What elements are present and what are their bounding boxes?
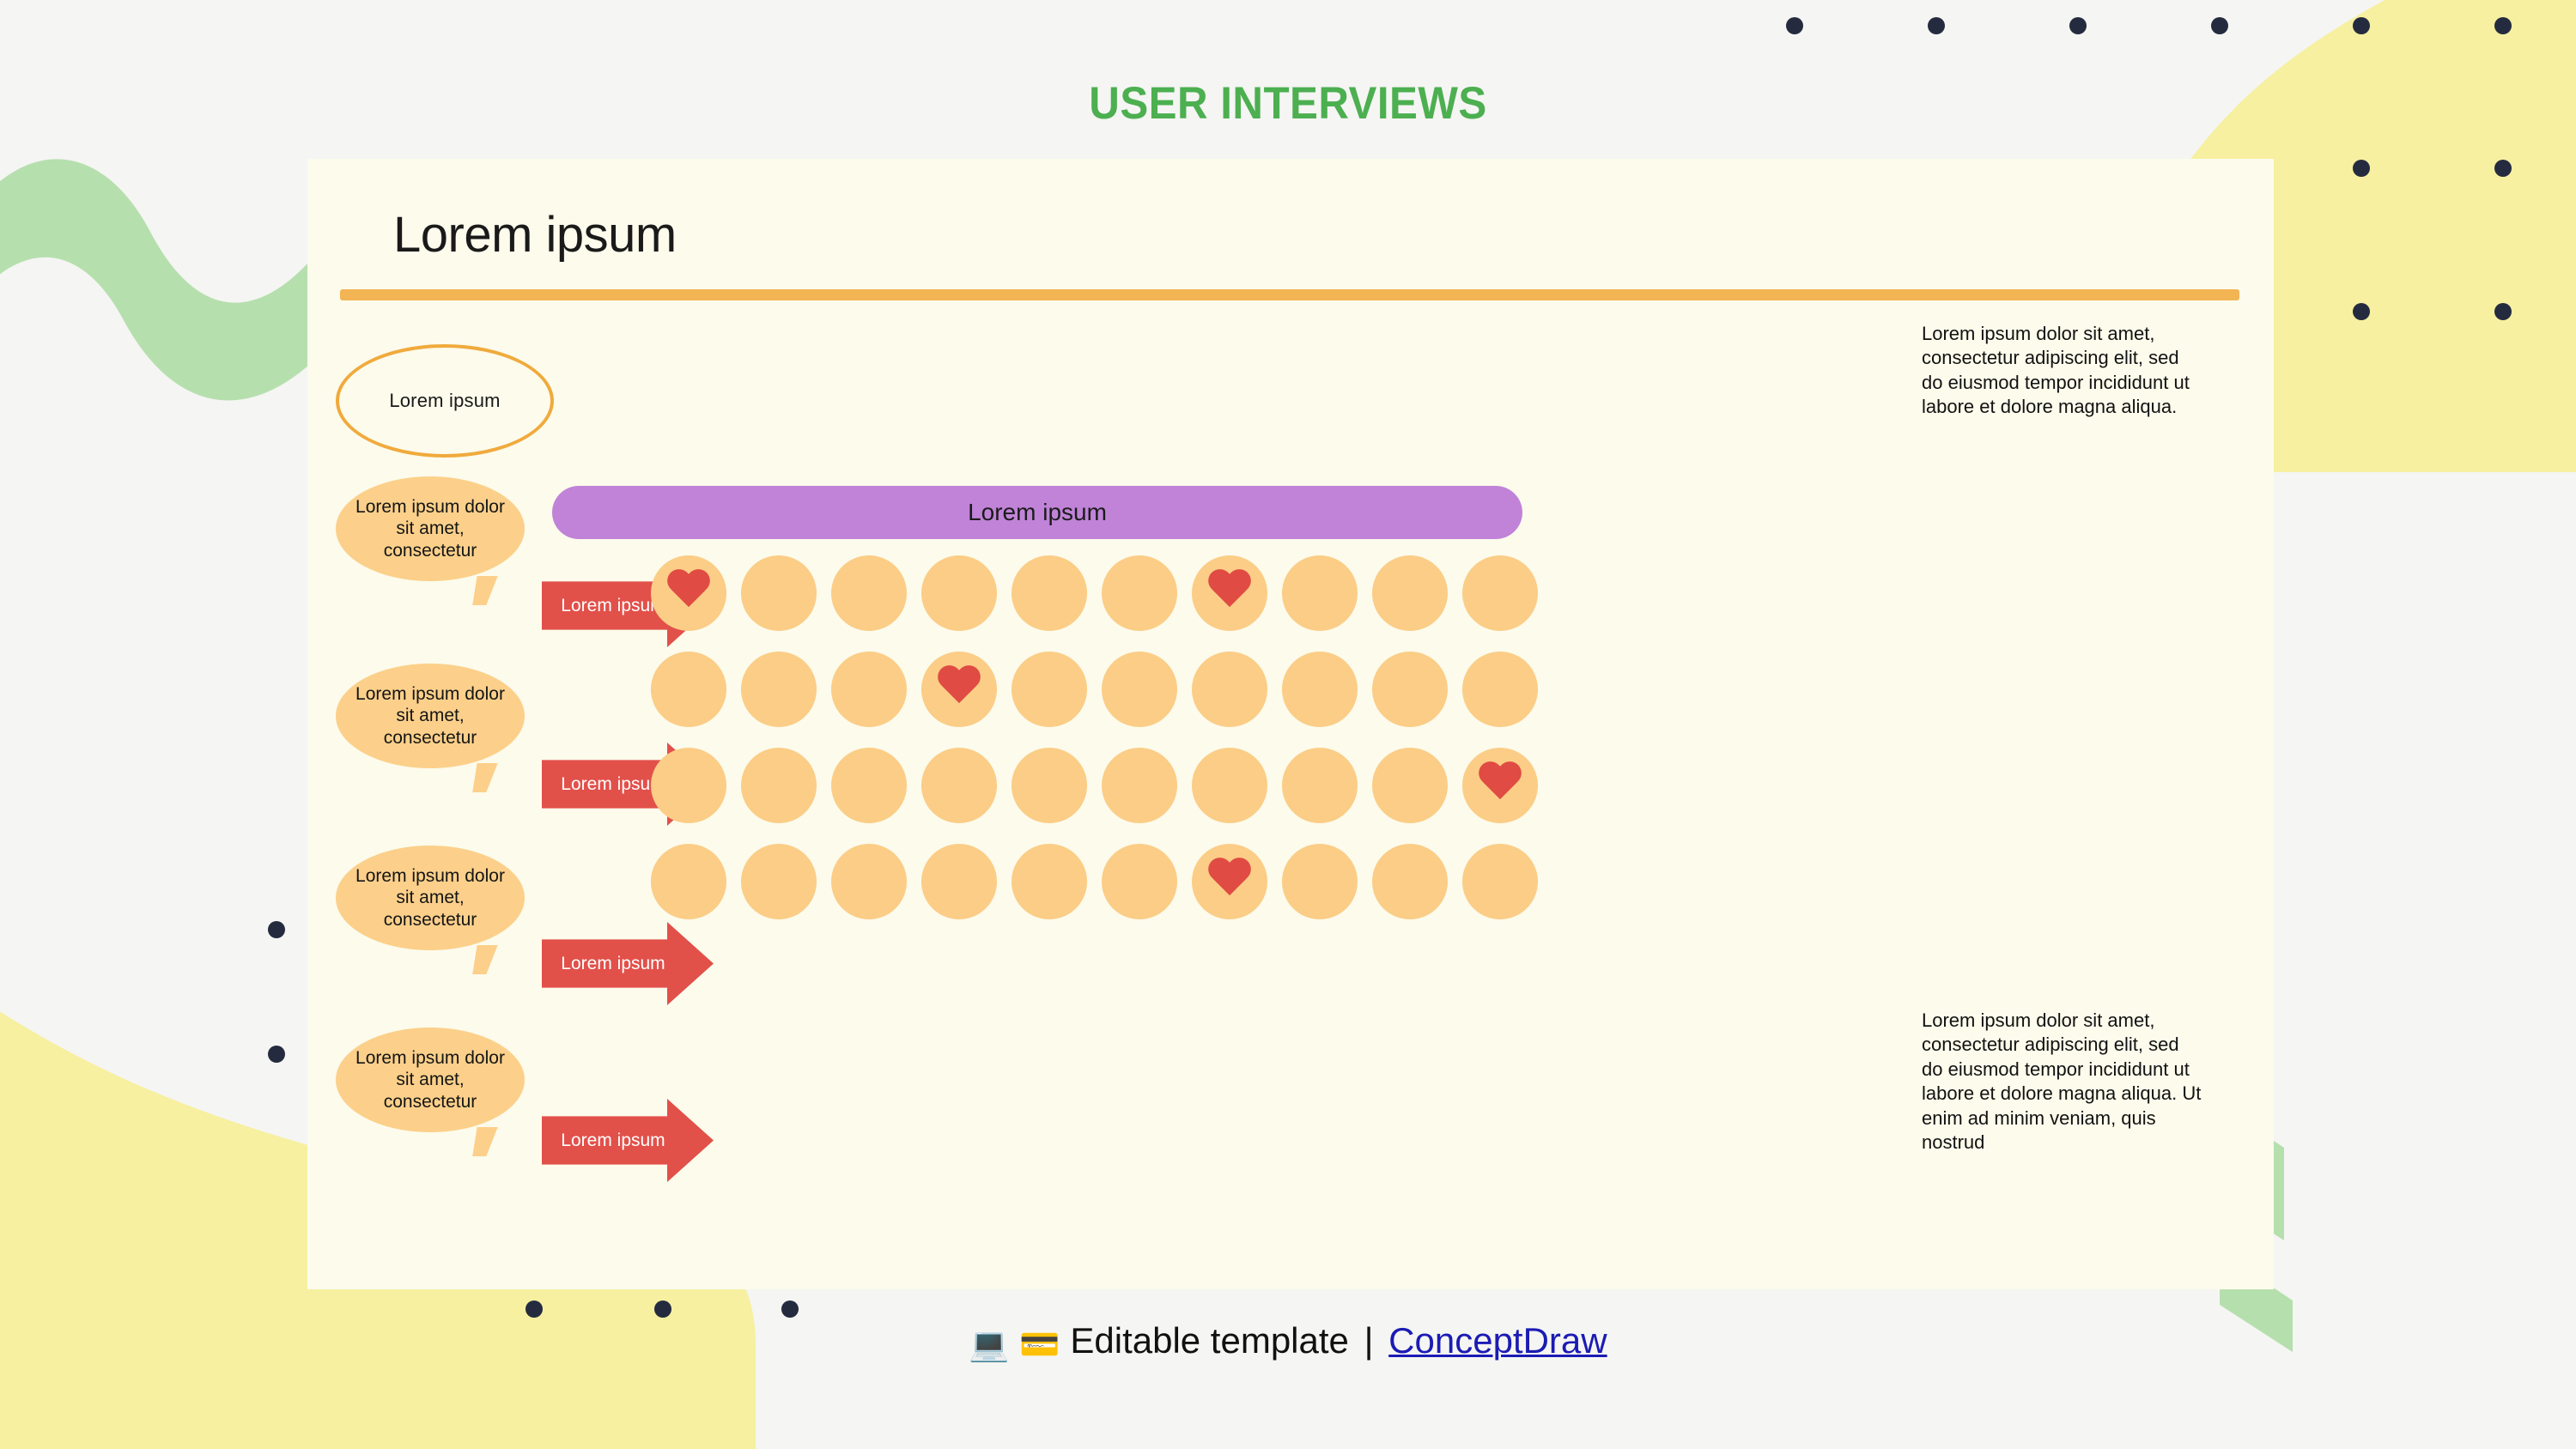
decorative-dot <box>2069 17 2087 34</box>
purple-header-bar[interactable]: Lorem ipsum <box>552 486 1522 539</box>
speech-bubble-tail-icon <box>472 576 497 605</box>
circle-cell-empty[interactable] <box>1372 844 1448 919</box>
circle-grid-row <box>651 844 1538 919</box>
circle-cell-empty[interactable] <box>1462 844 1538 919</box>
content-card: Lorem ipsum Lorem ipsum Lorem ipsum dolo… <box>307 159 2274 1289</box>
decorative-dot <box>654 1300 671 1318</box>
slide-title: USER INTERVIEWS <box>90 77 2486 130</box>
decorative-dot <box>1786 17 1803 34</box>
circle-cell-hearted[interactable] <box>921 652 997 727</box>
speech-bubble[interactable]: Lorem ipsum dolor sit amet, consectetur <box>336 846 525 950</box>
speech-bubble-tail-icon <box>472 1127 497 1156</box>
circle-grid-row <box>651 652 1538 727</box>
circle-cell-empty[interactable] <box>651 844 726 919</box>
circle-grid-row <box>651 555 1538 631</box>
circle-grid-row <box>651 748 1538 823</box>
circle-cell-empty[interactable] <box>1012 652 1087 727</box>
speech-bubble[interactable]: Lorem ipsum dolor sit amet, consectetur <box>336 476 525 581</box>
red-arrow-icon[interactable]: Lorem ipsum <box>542 1099 714 1182</box>
decorative-dot <box>268 921 285 938</box>
circle-cell-empty[interactable] <box>1282 555 1358 631</box>
circle-cell-empty[interactable] <box>1102 844 1177 919</box>
speech-bubble[interactable]: Lorem ipsum dolor sit amet, consectetur <box>336 1028 525 1132</box>
circle-grid <box>651 555 1538 940</box>
circle-cell-empty[interactable] <box>1282 652 1358 727</box>
circle-cell-empty[interactable] <box>1012 844 1087 919</box>
heart-icon <box>1477 762 1523 805</box>
circle-cell-hearted[interactable] <box>651 555 726 631</box>
circle-cell-empty[interactable] <box>1462 652 1538 727</box>
side-paragraph-bottom: Lorem ipsum dolor sit amet, consectetur … <box>1922 1009 2205 1155</box>
speech-bubble-text: Lorem ipsum dolor sit amet, consectetur <box>336 496 525 562</box>
circle-cell-empty[interactable] <box>1282 844 1358 919</box>
circle-cell-empty[interactable] <box>1102 555 1177 631</box>
footer-credit: 💻 💳 Editable template | ConceptDraw <box>0 1320 2576 1364</box>
heart-icon <box>936 666 982 709</box>
decorative-dot <box>2353 303 2370 320</box>
slide-canvas: USER INTERVIEWS Lorem ipsum Lorem ipsum … <box>0 0 2576 1449</box>
circle-cell-empty[interactable] <box>741 844 817 919</box>
green-wave-left-decoration <box>0 150 309 416</box>
circle-cell-empty[interactable] <box>1372 748 1448 823</box>
footer-separator: | <box>1359 1320 1379 1361</box>
circle-cell-empty[interactable] <box>831 748 907 823</box>
decorative-dot <box>268 1046 285 1063</box>
speech-bubble-text: Lorem ipsum dolor sit amet, consectetur <box>336 865 525 931</box>
footer-text: Editable template <box>1070 1320 1349 1361</box>
orange-divider <box>340 289 2239 300</box>
decorative-dot <box>2494 17 2512 34</box>
decorative-dot <box>781 1300 799 1318</box>
red-arrow-label: Lorem ipsum <box>561 954 694 974</box>
speech-bubble-text: Lorem ipsum dolor sit amet, consectetur <box>336 683 525 749</box>
circle-cell-empty[interactable] <box>1102 748 1177 823</box>
circle-cell-empty[interactable] <box>1102 652 1177 727</box>
circle-cell-empty[interactable] <box>651 748 726 823</box>
circle-cell-empty[interactable] <box>741 652 817 727</box>
conceptdraw-link[interactable]: ConceptDraw <box>1388 1320 1607 1361</box>
circle-cell-hearted[interactable] <box>1192 844 1267 919</box>
side-paragraph-top: Lorem ipsum dolor sit amet, consectetur … <box>1922 322 2205 420</box>
speech-bubble-tail-icon <box>472 945 497 974</box>
circle-cell-empty[interactable] <box>1012 555 1087 631</box>
circle-cell-empty[interactable] <box>651 652 726 727</box>
heart-icon <box>1206 858 1253 901</box>
circle-cell-empty[interactable] <box>831 555 907 631</box>
circle-cell-empty[interactable] <box>1192 652 1267 727</box>
speech-bubble-text: Lorem ipsum dolor sit amet, consectetur <box>336 1047 525 1113</box>
card-heading: Lorem ipsum <box>393 206 677 264</box>
circle-cell-hearted[interactable] <box>1462 748 1538 823</box>
circle-cell-empty[interactable] <box>831 652 907 727</box>
circle-cell-empty[interactable] <box>921 555 997 631</box>
speech-bubble-tail-icon <box>472 763 497 792</box>
heart-icon <box>1206 570 1253 613</box>
purple-header-bar-label: Lorem ipsum <box>968 499 1107 526</box>
circle-cell-empty[interactable] <box>1282 748 1358 823</box>
credit-card-icon: 💳 <box>1019 1327 1060 1363</box>
circle-cell-empty[interactable] <box>921 748 997 823</box>
heart-icon <box>665 570 712 613</box>
outline-oval-text: Lorem ipsum <box>389 390 500 412</box>
decorative-dot <box>1928 17 1945 34</box>
decorative-dot <box>2494 303 2512 320</box>
circle-cell-empty[interactable] <box>831 844 907 919</box>
laptop-icon: 💻 <box>969 1327 1009 1363</box>
circle-cell-empty[interactable] <box>1372 652 1448 727</box>
circle-cell-empty[interactable] <box>1372 555 1448 631</box>
decorative-dot <box>2353 17 2370 34</box>
circle-cell-empty[interactable] <box>1012 748 1087 823</box>
decorative-dot <box>2353 160 2370 177</box>
decorative-dot <box>526 1300 543 1318</box>
circle-cell-hearted[interactable] <box>1192 555 1267 631</box>
circle-cell-empty[interactable] <box>1192 748 1267 823</box>
speech-bubble[interactable]: Lorem ipsum dolor sit amet, consectetur <box>336 664 525 768</box>
circle-cell-empty[interactable] <box>741 555 817 631</box>
outline-oval-label[interactable]: Lorem ipsum <box>336 344 554 458</box>
decorative-dot <box>2211 17 2228 34</box>
circle-cell-empty[interactable] <box>921 844 997 919</box>
circle-cell-empty[interactable] <box>741 748 817 823</box>
circle-cell-empty[interactable] <box>1462 555 1538 631</box>
decorative-dot <box>2494 160 2512 177</box>
red-arrow-label: Lorem ipsum <box>561 1131 694 1151</box>
